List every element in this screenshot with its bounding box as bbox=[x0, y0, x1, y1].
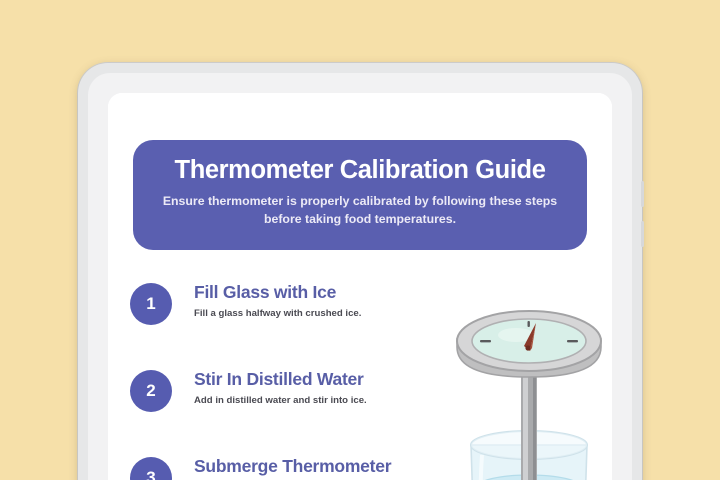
step-body: Stir In Distilled Water Add in distilled… bbox=[194, 368, 460, 407]
probe-stem-icon bbox=[521, 363, 537, 480]
step-body: Submerge Thermometer bbox=[194, 455, 460, 476]
thermometer-dial-icon bbox=[457, 311, 601, 377]
poster-header-card: Thermometer Calibration Guide Ensure the… bbox=[133, 140, 587, 250]
step-description: Fill a glass halfway with crushed ice. bbox=[194, 308, 460, 320]
page-subtitle: Ensure thermometer is properly calibrate… bbox=[157, 193, 563, 229]
step-number-badge: 1 bbox=[130, 283, 172, 325]
volume-down-button[interactable] bbox=[641, 221, 644, 247]
step-title: Stir In Distilled Water bbox=[194, 369, 460, 389]
thermometer-illustration bbox=[446, 305, 612, 480]
page-title: Thermometer Calibration Guide bbox=[151, 156, 569, 184]
step-number-badge: 2 bbox=[130, 370, 172, 412]
tablet-screen[interactable]: Thermometer Calibration Guide Ensure the… bbox=[108, 93, 612, 480]
list-item: 2 Stir In Distilled Water Add in distill… bbox=[130, 368, 460, 410]
step-description: Add in distilled water and stir into ice… bbox=[194, 395, 460, 407]
step-title: Submerge Thermometer bbox=[194, 456, 460, 476]
steps-list: 1 Fill Glass with Ice Fill a glass halfw… bbox=[130, 281, 460, 480]
list-item: 3 Submerge Thermometer bbox=[130, 455, 460, 480]
screenshot-stage: Thermometer Calibration Guide Ensure the… bbox=[0, 0, 720, 480]
list-item: 1 Fill Glass with Ice Fill a glass halfw… bbox=[130, 281, 460, 323]
step-number-badge: 3 bbox=[130, 457, 172, 480]
volume-up-button[interactable] bbox=[641, 181, 644, 207]
calibration-guide-poster: Thermometer Calibration Guide Ensure the… bbox=[108, 93, 612, 480]
step-title: Fill Glass with Ice bbox=[194, 282, 460, 302]
step-body: Fill Glass with Ice Fill a glass halfway… bbox=[194, 281, 460, 320]
tablet-device: Thermometer Calibration Guide Ensure the… bbox=[78, 63, 642, 480]
